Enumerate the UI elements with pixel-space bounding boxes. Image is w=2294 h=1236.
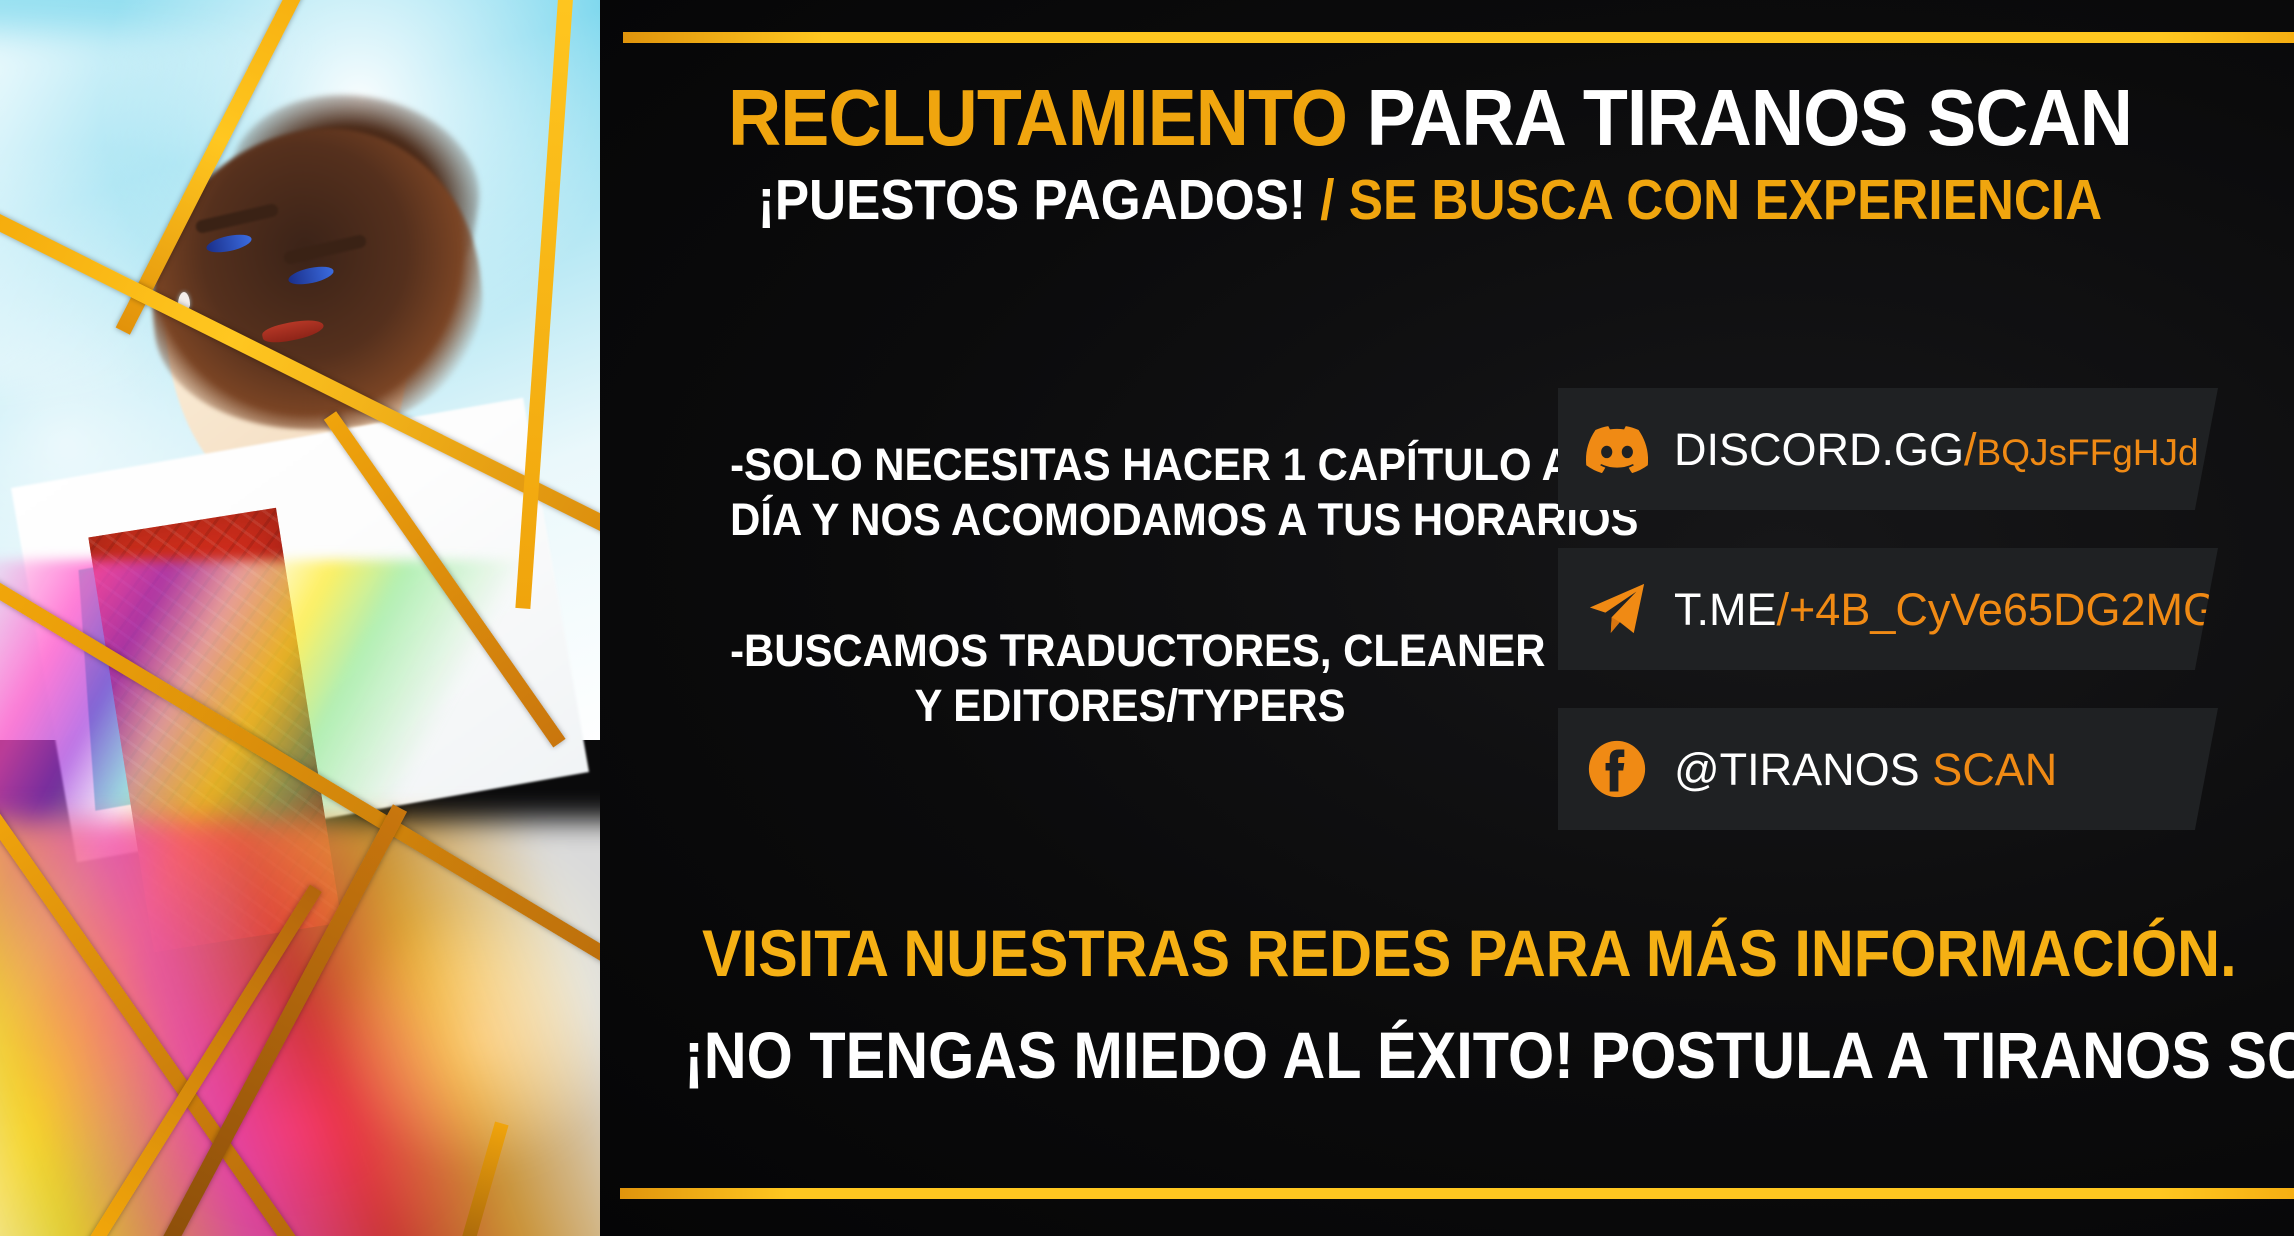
discord-icon <box>1586 418 1648 480</box>
page-subtitle: ¡PUESTOS PAGADOS! / SE BUSCA CON EXPERIE… <box>701 172 2159 229</box>
requirement-2-line-2: Y EDITORES/TYPERS <box>730 679 1530 734</box>
cta-line-2: ¡NO TENGAS MIEDO AL ÉXITO! POSTULA A TIR… <box>684 1022 2196 1088</box>
requirement-item-2: -BUSCAMOS TRADUCTORES, CLEANER Y EDITORE… <box>730 624 1530 734</box>
telegram-separator: / <box>1777 584 1790 635</box>
discord-domain: DISCORD.GG <box>1674 424 1964 475</box>
requirement-1-line-2: DÍA Y NOS ACOMODAMOS A TUS HORARIOS <box>730 493 1530 548</box>
artwork-prism-streak-lower <box>0 820 640 1236</box>
telegram-handle: +4B_CyVe65DG2MGJh <box>1789 584 2266 635</box>
facebook-domain: @TIRANOS <box>1674 744 1920 795</box>
contact-discord-text: DISCORD.GG/BQJsFFgHJd <box>1674 427 2199 472</box>
page-title: RECLUTAMIENTO PARA TIRANOS SCAN <box>685 78 2175 158</box>
telegram-domain: T.ME <box>1674 584 1777 635</box>
page-title-gold: RECLUTAMIENTO <box>728 73 1347 162</box>
page-subtitle-white: ¡PUESTOS PAGADOS! <box>758 168 1306 232</box>
discord-handle: BQJsFFgHJd <box>1977 432 2199 473</box>
requirement-1-line-1: -SOLO NECESITAS HACER 1 CAPÍTULO AL <box>730 438 1530 493</box>
gold-rule-bottom <box>620 1188 2294 1199</box>
artwork-panel <box>0 0 640 1236</box>
contact-facebook-text: @TIRANOS SCAN <box>1674 747 2057 792</box>
recruitment-poster: RECLUTAMIENTO PARA TIRANOS SCAN ¡PUESTOS… <box>0 0 2294 1236</box>
facebook-handle: SCAN <box>1932 744 2057 795</box>
facebook-icon <box>1586 738 1648 800</box>
contact-telegram-text: T.ME/+4B_CyVe65DG2MGJh <box>1674 587 2266 632</box>
contact-links-list: DISCORD.GG/BQJsFFgHJd T.ME/+4B_CyVe65DG2… <box>1558 388 2218 868</box>
requirements-list: -SOLO NECESITAS HACER 1 CAPÍTULO AL DÍA … <box>730 438 1530 734</box>
gold-rule-top <box>623 32 2294 43</box>
requirement-2-line-1: -BUSCAMOS TRADUCTORES, CLEANER <box>730 624 1530 679</box>
cta-line-1: VISITA NUESTRAS REDES PARA MÁS INFORMACI… <box>702 920 2178 986</box>
contact-card-telegram[interactable]: T.ME/+4B_CyVe65DG2MGJh <box>1558 548 2218 670</box>
telegram-icon <box>1586 578 1648 640</box>
page-title-white: PARA TIRANOS SCAN <box>1367 73 2132 162</box>
facebook-separator <box>1920 744 1933 795</box>
page-subtitle-gold: / SE BUSCA CON EXPERIENCIA <box>1320 168 2102 232</box>
contact-card-facebook[interactable]: @TIRANOS SCAN <box>1558 708 2218 830</box>
contact-card-discord[interactable]: DISCORD.GG/BQJsFFgHJd <box>1558 388 2218 510</box>
discord-separator: / <box>1964 424 1977 475</box>
requirement-item-1: -SOLO NECESITAS HACER 1 CAPÍTULO AL DÍA … <box>730 438 1530 548</box>
